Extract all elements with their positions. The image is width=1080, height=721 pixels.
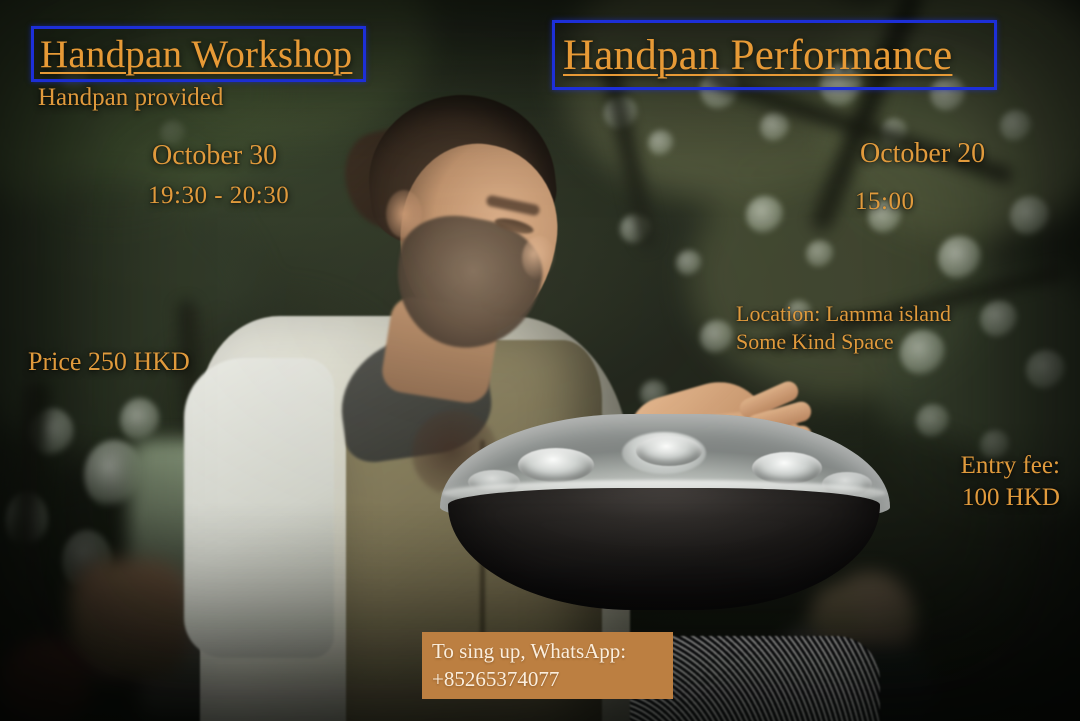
workshop-title-box: Handpan Workshop [31,26,366,82]
performance-location: Location: Lamma island Some Kind Space [736,300,951,356]
contact-instruction: To sing up, WhatsApp: [432,638,663,666]
contact-signup-box[interactable]: To sing up, WhatsApp: +85265374077 [422,632,673,699]
poster-canvas: Handpan Workshop Handpan provided Octobe… [0,0,1080,721]
performance-location-line1: Location: Lamma island [736,300,951,328]
performance-entry-fee: Entry fee: 100 HKD [944,450,1060,514]
text-overlay: Handpan Workshop Handpan provided Octobe… [0,0,1080,721]
workshop-title: Handpan Workshop [40,32,352,77]
workshop-time: 19:30 - 20:30 [148,180,289,212]
performance-title: Handpan Performance [563,31,952,80]
workshop-subtitle: Handpan provided [38,82,223,114]
performance-date: October 20 [860,136,985,172]
workshop-price: Price 250 HKD [28,345,190,378]
performance-time: 15:00 [855,186,914,218]
contact-phone-number[interactable]: +85265374077 [432,666,663,694]
entry-fee-amount: 100 HKD [962,482,1060,514]
entry-fee-label: Entry fee: [944,450,1060,482]
performance-title-box: Handpan Performance [552,20,997,90]
workshop-date: October 30 [152,138,277,174]
performance-location-line2: Some Kind Space [736,328,951,356]
